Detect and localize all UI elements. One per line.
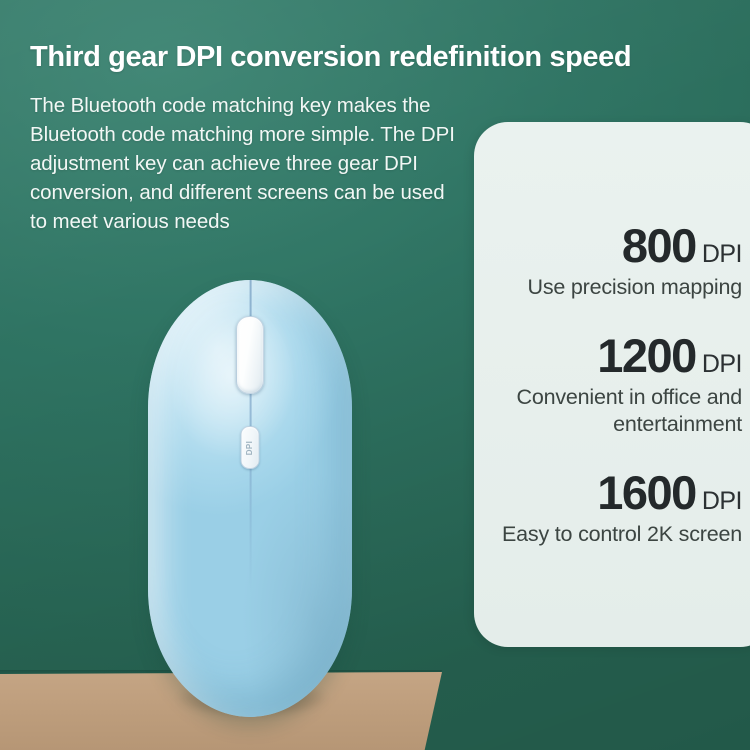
description-paragraph: The Bluetooth code matching key makes th… bbox=[30, 91, 455, 237]
dpi-spec-card: 800 DPI Use precision mapping 1200 DPI C… bbox=[474, 122, 750, 647]
mouse-scroll-wheel bbox=[236, 316, 264, 394]
page-title: Third gear DPI conversion redefinition s… bbox=[30, 39, 730, 76]
spec-description: Convenient in office and entertainment bbox=[474, 384, 742, 438]
spec-value-row: 1600 DPI bbox=[474, 468, 742, 517]
spec-value: 1200 bbox=[597, 331, 696, 380]
spec-value-row: 1200 DPI bbox=[474, 331, 742, 380]
spec-description: Easy to control 2K screen bbox=[474, 521, 742, 548]
mouse-dpi-button: DPI bbox=[241, 426, 260, 469]
spec-item-1600: 1600 DPI Easy to control 2K screen bbox=[474, 468, 748, 548]
spec-unit: DPI bbox=[702, 350, 742, 379]
spec-item-1200: 1200 DPI Convenient in office and entert… bbox=[474, 331, 748, 438]
spec-value: 1600 bbox=[597, 468, 696, 517]
mouse-body: DPI bbox=[148, 280, 352, 717]
spec-value: 800 bbox=[622, 221, 696, 270]
spec-unit: DPI bbox=[702, 487, 742, 516]
spec-value-row: 800 DPI bbox=[474, 221, 742, 270]
spec-unit: DPI bbox=[702, 240, 742, 269]
spec-description: Use precision mapping bbox=[474, 274, 742, 301]
product-image-wireless-mouse: DPI bbox=[148, 280, 352, 717]
spec-item-800: 800 DPI Use precision mapping bbox=[474, 221, 748, 301]
product-marketing-poster: Third gear DPI conversion redefinition s… bbox=[0, 0, 750, 750]
mouse-dpi-button-label: DPI bbox=[246, 440, 254, 455]
